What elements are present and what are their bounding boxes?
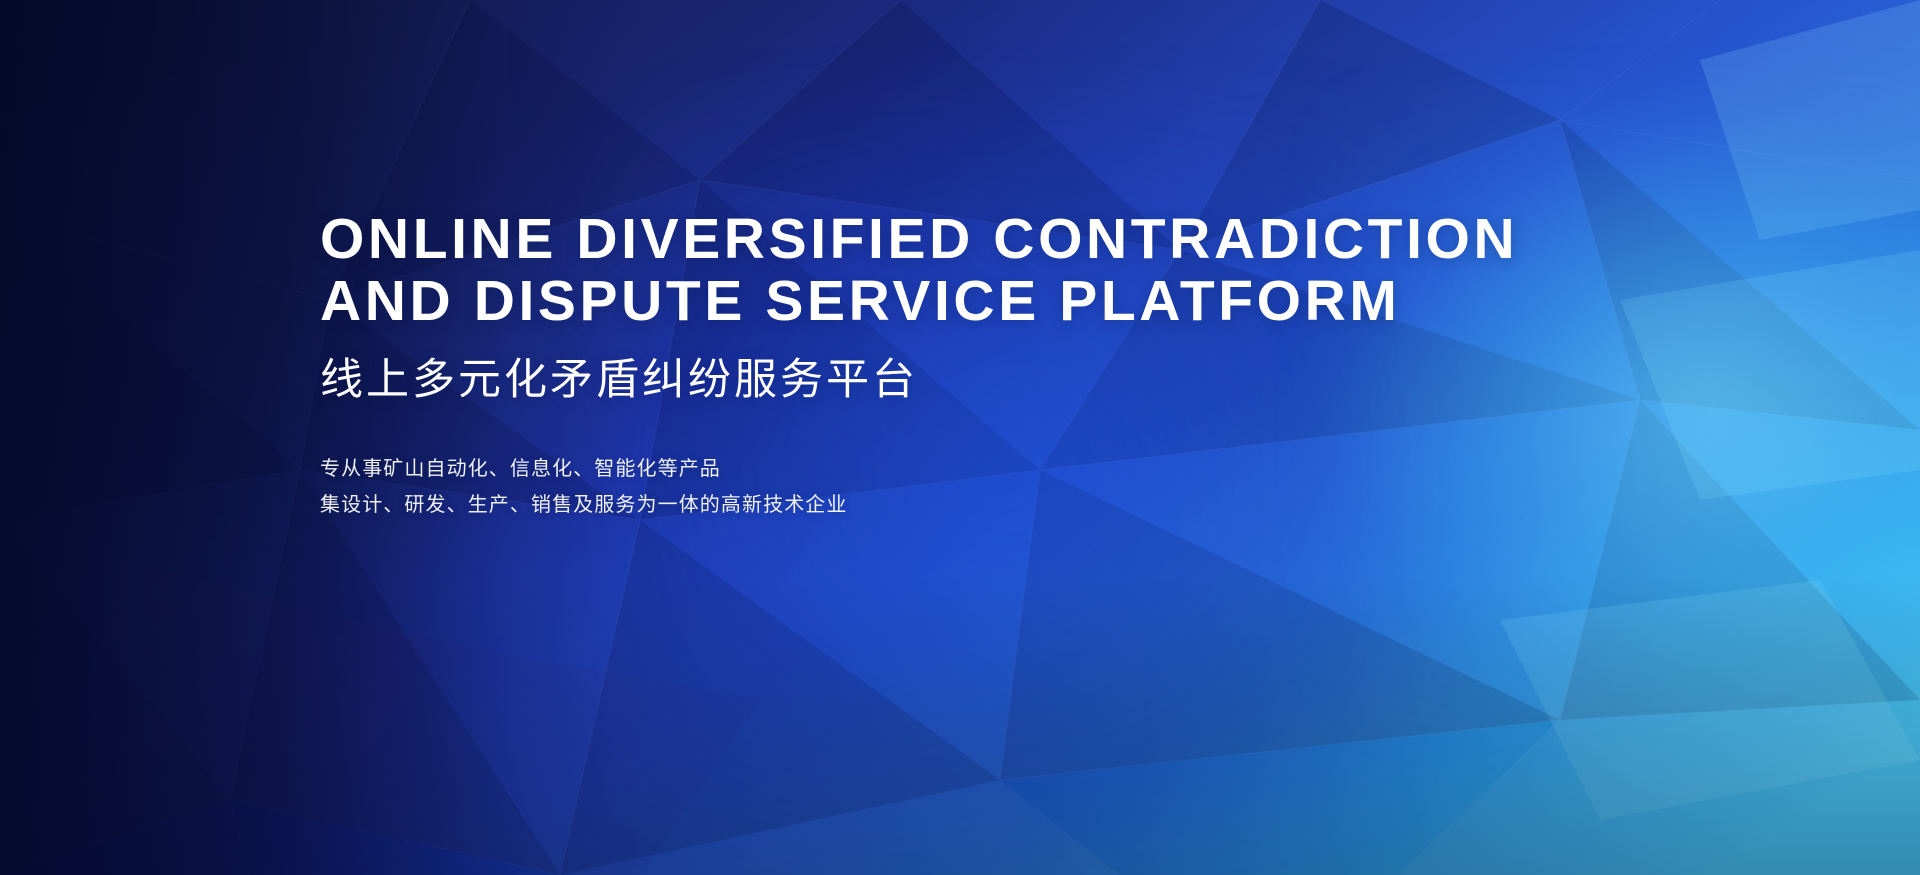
description-line-1: 专从事矿山自动化、信息化、智能化等产品 [320,450,1740,486]
headline-line-2: AND DISPUTE SERVICE PLATFORM [320,270,1740,332]
subtitle-chinese: 线上多元化矛盾纠纷服务平台 [320,354,1740,406]
hero-text-block: ONLINE DIVERSIFIED CONTRADICTION AND DIS… [320,208,1740,522]
headline-line-1: ONLINE DIVERSIFIED CONTRADICTION [320,208,1740,270]
description-line-2: 集设计、研发、生产、销售及服务为一体的高新技术企业 [320,486,1740,522]
hero-banner: ONLINE DIVERSIFIED CONTRADICTION AND DIS… [0,0,1920,875]
description-block: 专从事矿山自动化、信息化、智能化等产品 集设计、研发、生产、销售及服务为一体的高… [320,450,1740,522]
